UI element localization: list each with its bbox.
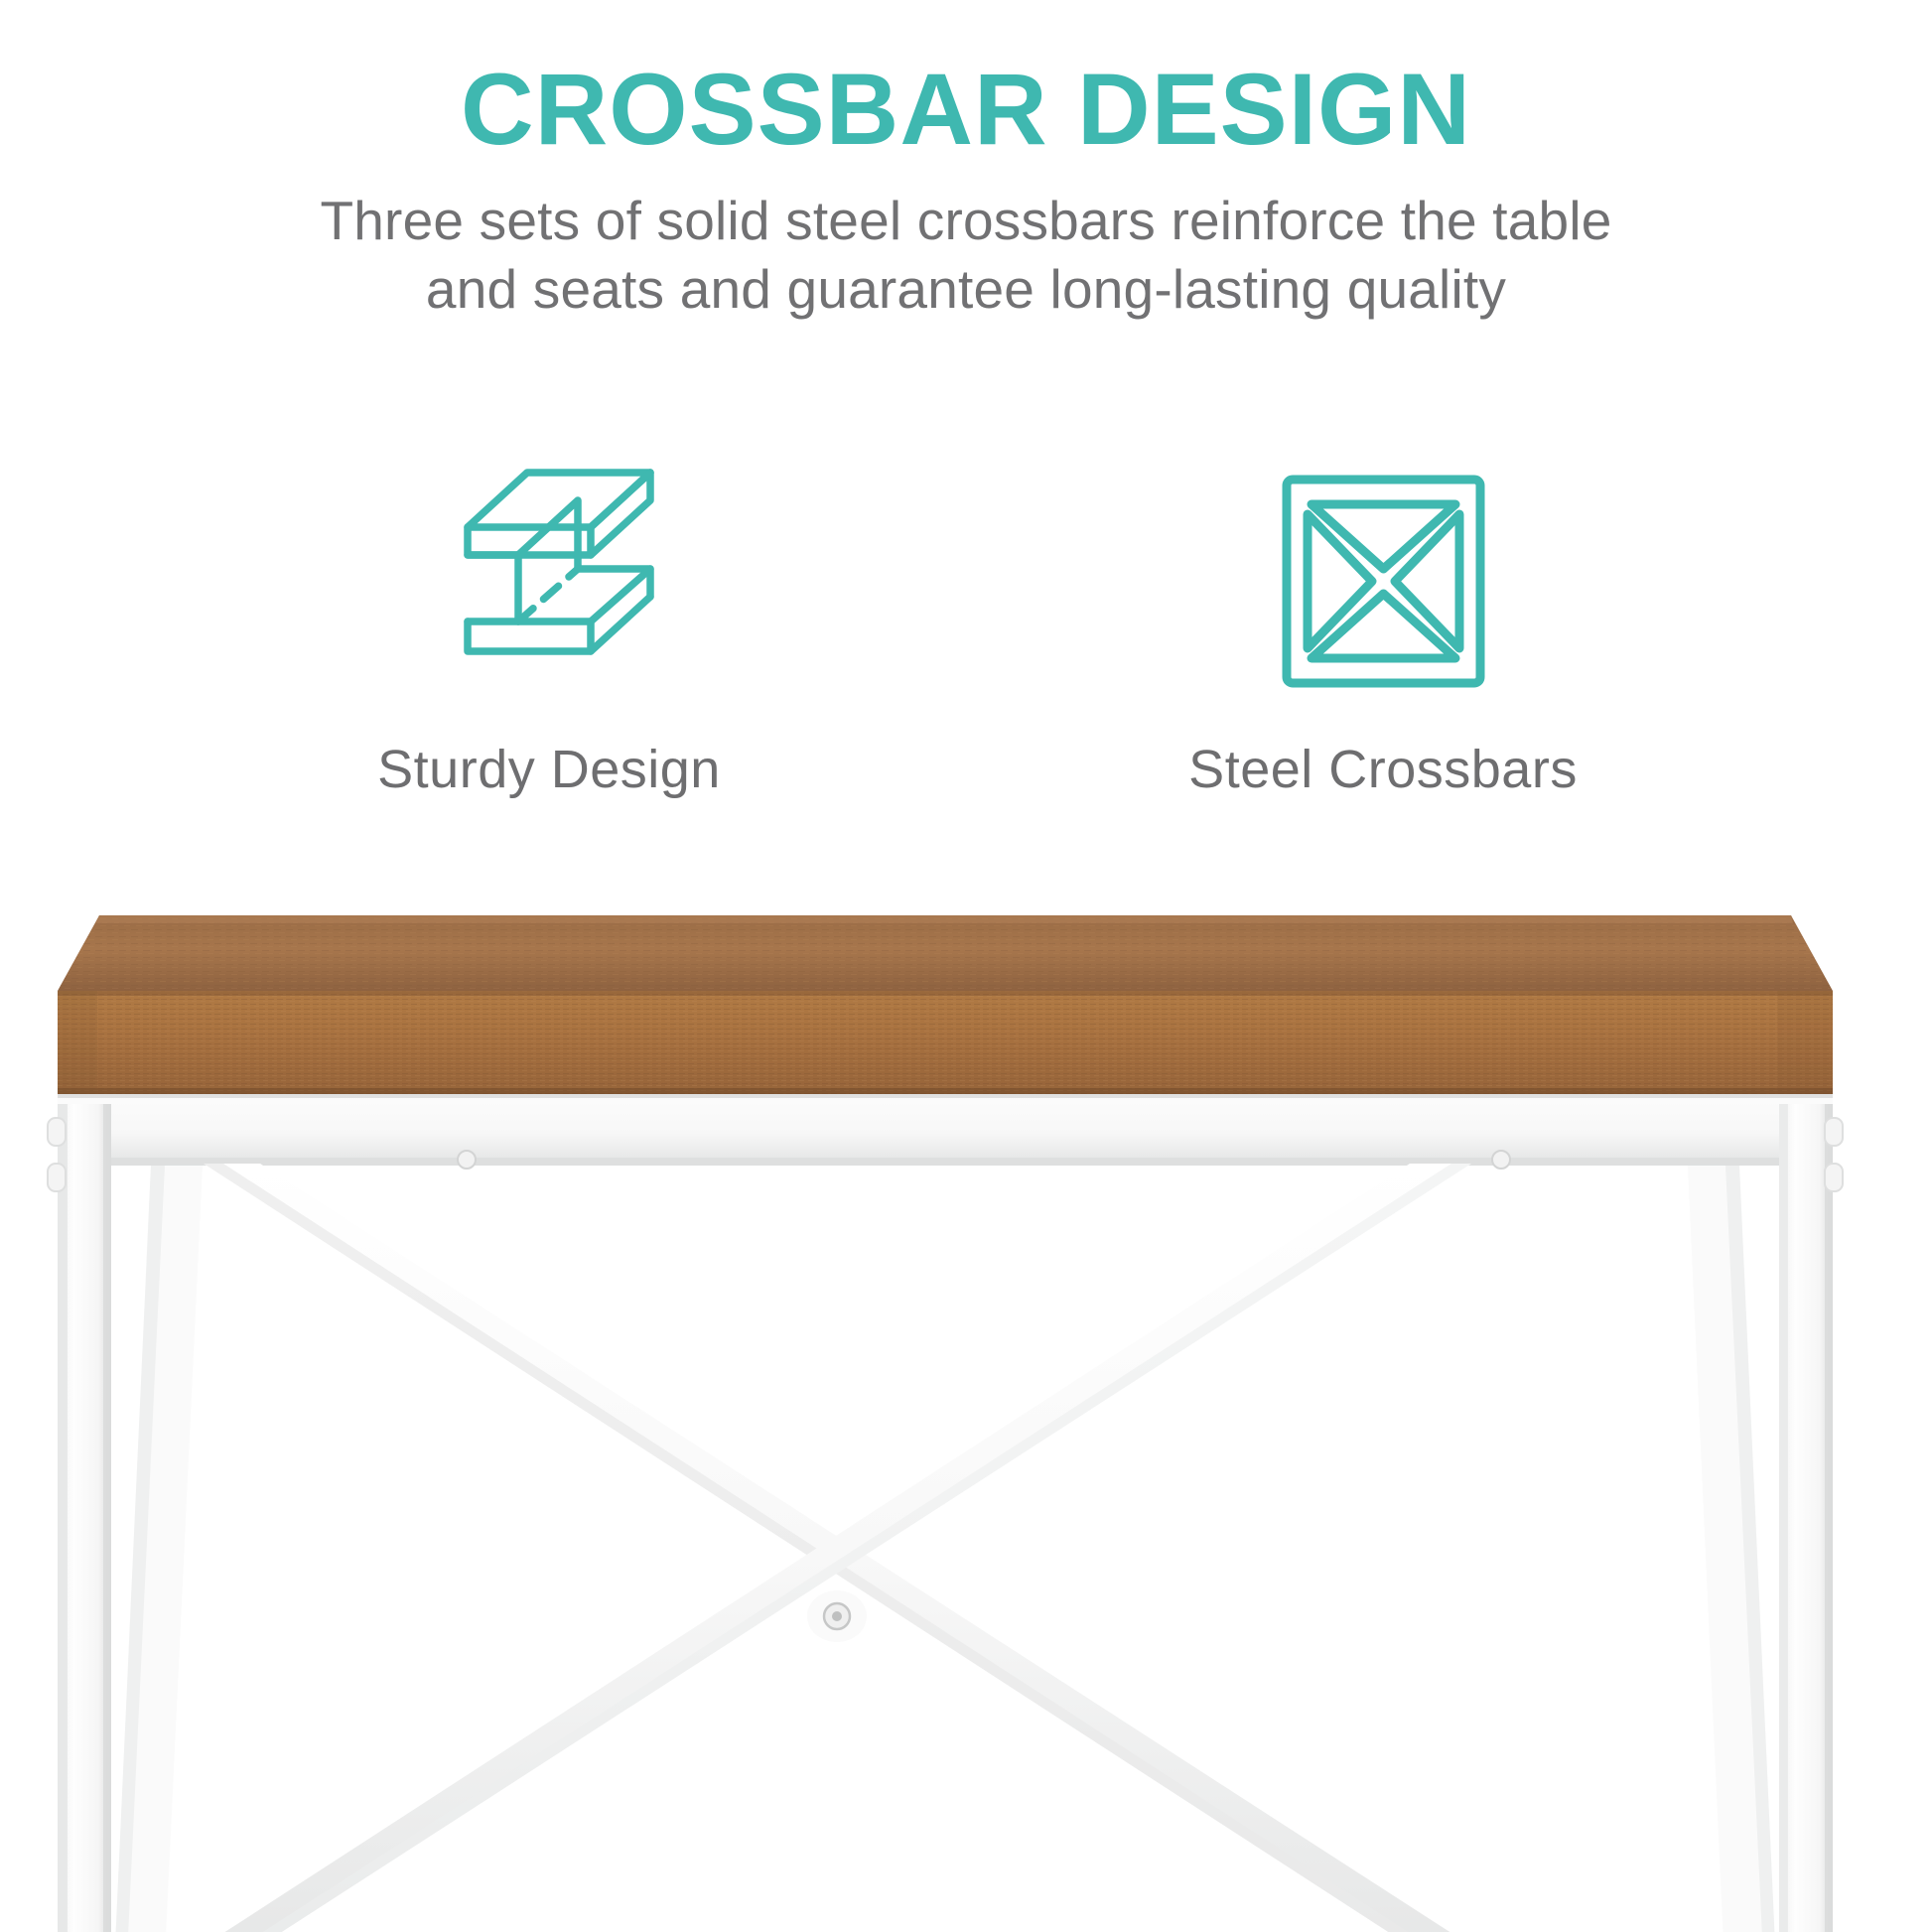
subtitle-line-1: Three sets of solid steel crossbars rein… [0,187,1932,255]
subtitle-line-2: and seats and guarantee long-lasting qua… [0,255,1932,324]
left-leg [48,1104,203,1932]
subtitle: Three sets of solid steel crossbars rein… [0,187,1932,325]
x-crossbar [204,1164,1471,1932]
product-image [0,894,1932,1932]
feature-steel-crossbars: Steel Crossbars [1174,457,1591,800]
feature-label-sturdy-design: Sturdy Design [377,739,721,800]
feature-sturdy-design: Sturdy Design [341,457,758,800]
wood-tabletop [58,915,1833,1094]
apron-screws [458,1151,1781,1932]
header: CROSSBAR DESIGN Three sets of solid stee… [0,58,1932,325]
feature-label-steel-crossbars: Steel Crossbars [1188,739,1578,800]
i-beam-icon [400,457,698,705]
right-leg [1688,1104,1843,1932]
feature-row: Sturdy Design Steel Crossbars [0,457,1932,800]
page-title: CROSSBAR DESIGN [0,58,1932,161]
x-crossbar-square-icon [1234,457,1532,705]
apron-rail [58,1094,1833,1166]
product-feature-card: CROSSBAR DESIGN Three sets of solid stee… [0,0,1932,1932]
